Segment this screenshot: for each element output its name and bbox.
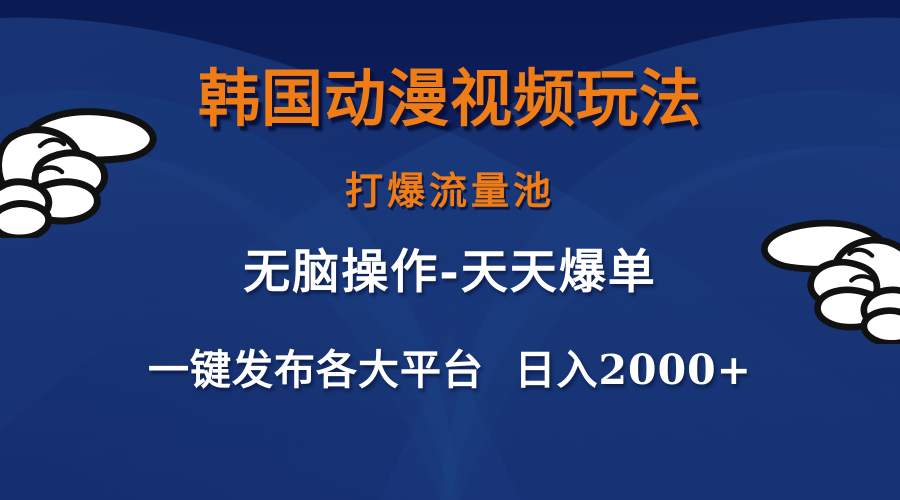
promo-poster: 韩国动漫视频玩法 打爆流量池 无脑操作-天天爆单 一键发布各大平台 日入2000…: [0, 0, 900, 500]
pointing-hand-right-icon: [0, 86, 162, 238]
benefit-line-2: 一键发布各大平台 日入2000+: [0, 344, 900, 396]
pointing-hand-left-icon: [756, 198, 900, 344]
